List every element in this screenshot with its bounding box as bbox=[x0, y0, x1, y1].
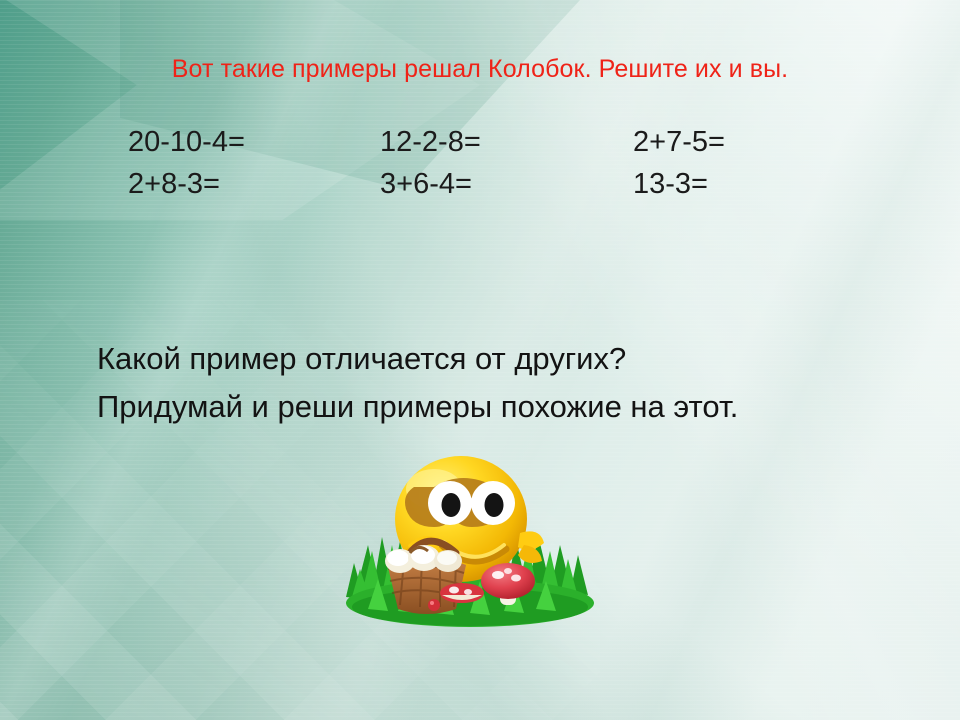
equations-grid: 20-10-4= 12-2-8= 2+7-5= 2+8-3= 3+6-4= 13… bbox=[128, 122, 888, 206]
equation-cell: 12-2-8= bbox=[380, 122, 633, 162]
kolobok-illustration bbox=[338, 441, 602, 631]
equations-row: 2+8-3= 3+6-4= 13-3= bbox=[128, 164, 888, 206]
equation-cell: 20-10-4= bbox=[128, 122, 380, 162]
equation-cell: 2+8-3= bbox=[128, 164, 380, 204]
slide-canvas: Вот такие примеры решал Колобок. Решите … bbox=[0, 0, 960, 720]
equation-cell: 13-3= bbox=[633, 164, 873, 204]
mushroom-basket bbox=[385, 541, 466, 614]
red-mushroom-center bbox=[440, 583, 484, 603]
question-line: Придумай и реши примеры похожие на этот. bbox=[97, 383, 917, 431]
question-block: Какой пример отличается от других? Приду… bbox=[97, 335, 917, 431]
red-berry bbox=[428, 599, 440, 611]
equation-cell: 2+7-5= bbox=[633, 122, 873, 162]
equation-cell: 3+6-4= bbox=[380, 164, 633, 204]
slide-title: Вот такие примеры решал Колобок. Решите … bbox=[0, 55, 960, 84]
question-line: Какой пример отличается от других? bbox=[97, 335, 917, 383]
equations-row: 20-10-4= 12-2-8= 2+7-5= bbox=[128, 122, 888, 164]
